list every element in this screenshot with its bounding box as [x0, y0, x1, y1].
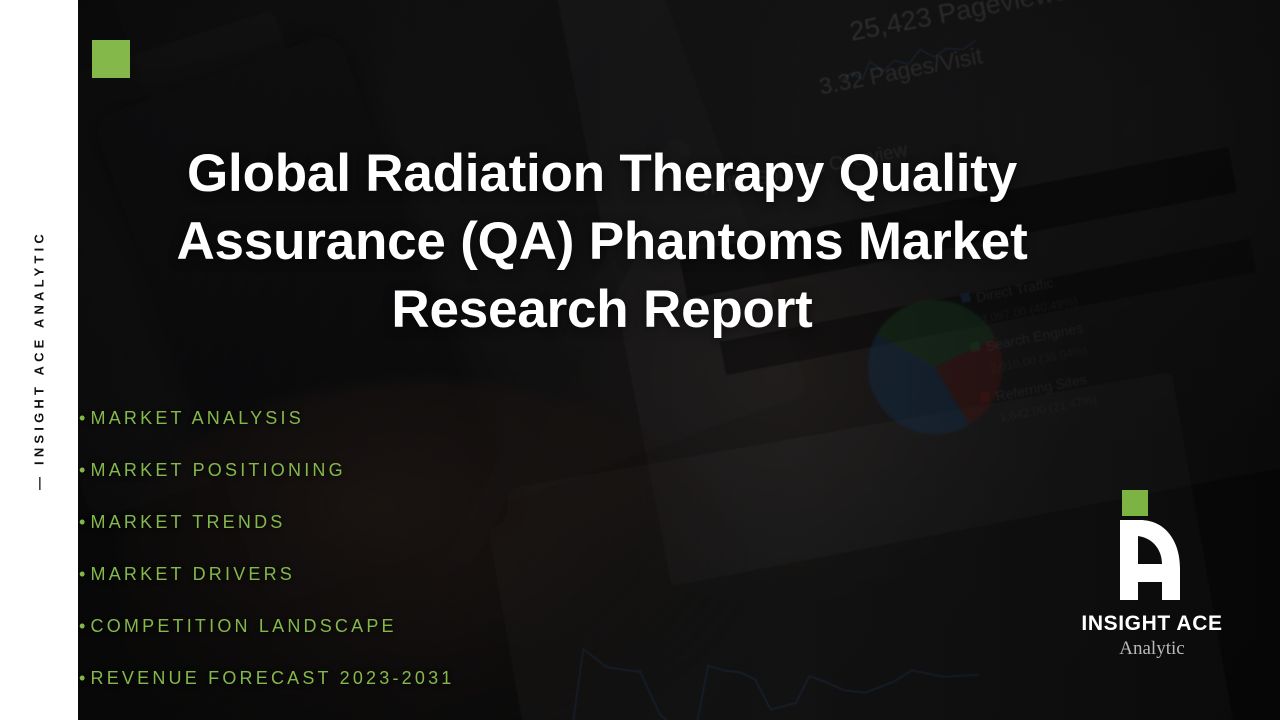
list-item-label: MARKET TRENDS — [91, 496, 286, 548]
slide-content: Global Radiation Therapy Quality Assuran… — [0, 0, 1280, 720]
page-title: Global Radiation Therapy Quality Assuran… — [92, 140, 1112, 344]
letter-a-mark-icon — [1120, 520, 1184, 600]
list-item-label: MARKET POSITIONING — [91, 444, 346, 496]
list-item: • MARKET DRIVERS — [79, 548, 639, 600]
bullet-marker-icon: • — [79, 392, 89, 444]
vertical-brand-text: — INSIGHT ACE ANALYTIC — [32, 230, 47, 490]
left-brand-rail: — INSIGHT ACE ANALYTIC — [0, 0, 78, 720]
list-item: • MARKET TRENDS — [79, 496, 639, 548]
accent-square-icon — [92, 40, 130, 78]
bullet-marker-icon: • — [79, 444, 89, 496]
list-item-label: MARKET ANALYSIS — [91, 392, 304, 444]
list-item: • REVENUE FORECAST 2023-2031 — [79, 652, 639, 704]
report-cover-slide: — INSIGHT ACE ANALYTIC 25,423 Pageviews … — [0, 0, 1280, 720]
list-item: • MARKET ANALYSIS — [79, 392, 639, 444]
list-item-label: REVENUE FORECAST 2023-2031 — [91, 652, 455, 704]
list-item-label: COMPETITION LANDSCAPE — [91, 600, 397, 652]
bullet-marker-icon: • — [79, 548, 89, 600]
bullet-marker-icon: • — [79, 496, 89, 548]
logo-mark — [1102, 490, 1202, 600]
bullet-marker-icon: • — [79, 652, 89, 704]
logo-tagline: Analytic — [1064, 636, 1240, 662]
bullet-marker-icon: • — [79, 600, 89, 652]
brand-logo: INSIGHT ACE Analytic — [1064, 490, 1240, 662]
list-item: • COMPETITION LANDSCAPE — [79, 600, 639, 652]
logo-green-square-icon — [1122, 490, 1148, 516]
logo-name: INSIGHT ACE — [1064, 612, 1240, 635]
list-item-label: MARKET DRIVERS — [91, 548, 296, 600]
topic-list: • MARKET ANALYSIS • MARKET POSITIONING •… — [79, 392, 639, 704]
list-item: • MARKET POSITIONING — [79, 444, 639, 496]
